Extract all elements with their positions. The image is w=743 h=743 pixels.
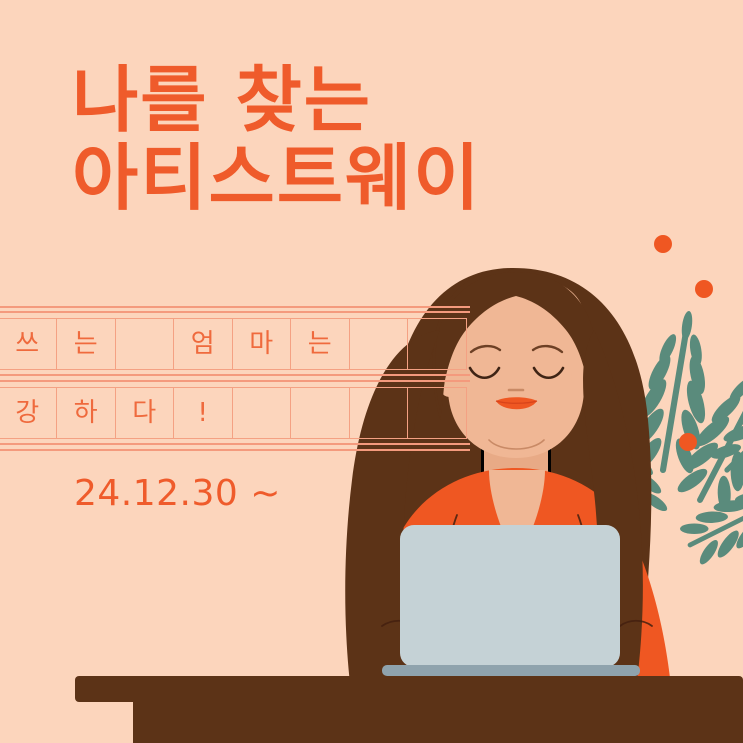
poster-canvas: 쓰 는 엄 마 는 강 하 다 ! 나를 찾는 아티스트웨이 bbox=[0, 0, 743, 743]
grid-cell: 쓰 bbox=[0, 319, 57, 369]
laptop bbox=[382, 525, 640, 676]
orange-dot bbox=[695, 280, 713, 298]
grid-cell: ! bbox=[174, 388, 233, 438]
grid-cell bbox=[291, 388, 350, 438]
grid-cell bbox=[233, 388, 292, 438]
manuscript-row-2: 강 하 다 ! bbox=[0, 387, 467, 439]
grid-cell: 엄 bbox=[174, 319, 233, 369]
grid-cell bbox=[408, 388, 467, 438]
grid-rule-mid-upper bbox=[0, 374, 470, 376]
grid-rule-top-outer bbox=[0, 306, 470, 308]
start-date-label: 24.12.30 ~ bbox=[74, 473, 281, 514]
laptop-base bbox=[382, 665, 640, 676]
orange-dot bbox=[654, 235, 672, 253]
desk bbox=[75, 676, 743, 743]
grid-cell: 마 bbox=[233, 319, 292, 369]
desk-body bbox=[133, 698, 743, 743]
grid-rule-bottom-upper bbox=[0, 443, 470, 445]
grid-cell: 강 bbox=[0, 388, 57, 438]
grid-cell bbox=[116, 319, 175, 369]
manuscript-row-1: 쓰 는 엄 마 는 bbox=[0, 318, 467, 370]
grid-rule-bottom-lower bbox=[0, 449, 470, 451]
grid-cell bbox=[350, 319, 409, 369]
grid-rule-top-inner bbox=[0, 311, 470, 313]
orange-dot bbox=[679, 433, 697, 451]
grid-cell: 는 bbox=[57, 319, 116, 369]
grid-cell bbox=[408, 319, 467, 369]
manuscript-paper-grid: 쓰 는 엄 마 는 강 하 다 ! bbox=[0, 306, 470, 451]
grid-rule-mid-lower bbox=[0, 380, 470, 382]
grid-cell: 다 bbox=[116, 388, 175, 438]
grid-cell bbox=[350, 388, 409, 438]
grid-cell: 는 bbox=[291, 319, 350, 369]
laptop-screen bbox=[400, 525, 620, 667]
grid-cell: 하 bbox=[57, 388, 116, 438]
